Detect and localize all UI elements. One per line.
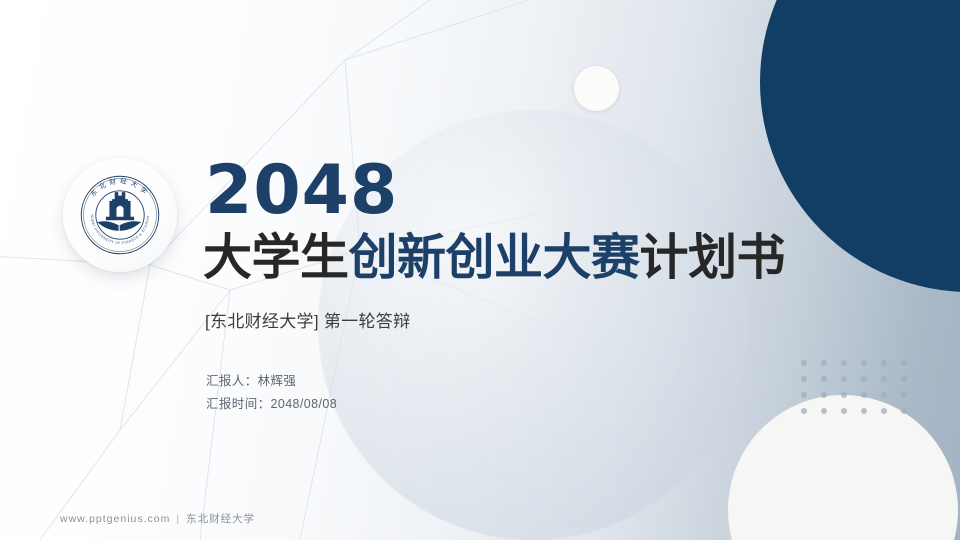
- presenter-line: 汇报人：林辉强: [206, 370, 337, 393]
- year-heading: 2048: [205, 157, 398, 225]
- page-title: 大学生创新创业大赛计划书: [203, 232, 785, 285]
- title-slide: 东北财经大学 DONGBEI UNIVERSITY OF FINANCE & E…: [0, 0, 960, 540]
- date-line: 汇报时间：2048/08/08: [206, 393, 337, 416]
- university-logo: 东北财经大学 DONGBEI UNIVERSITY OF FINANCE & E…: [63, 158, 177, 272]
- navy-accent-circle: [760, 0, 960, 292]
- dot-grid-pattern: [801, 360, 921, 424]
- svg-text:东北财经大学: 东北财经大学: [88, 176, 151, 198]
- title-segment-1: 大学生: [203, 229, 349, 286]
- footer-separator: |: [176, 513, 180, 525]
- footer: www.pptgenius.com|东北财经大学: [60, 511, 255, 526]
- footer-organization: 东北财经大学: [186, 513, 255, 525]
- university-emblem-icon: 东北财经大学 DONGBEI UNIVERSITY OF FINANCE & E…: [76, 171, 164, 259]
- title-segment-2: 创新创业大赛: [349, 229, 640, 286]
- footer-site: www.pptgenius.com: [60, 513, 170, 525]
- small-white-accent-circle: [574, 66, 619, 111]
- presentation-meta: 汇报人：林辉强 汇报时间：2048/08/08: [206, 370, 337, 416]
- subtitle: [东北财经大学] 第一轮答辩: [205, 307, 410, 332]
- title-segment-3: 计划书: [640, 229, 786, 286]
